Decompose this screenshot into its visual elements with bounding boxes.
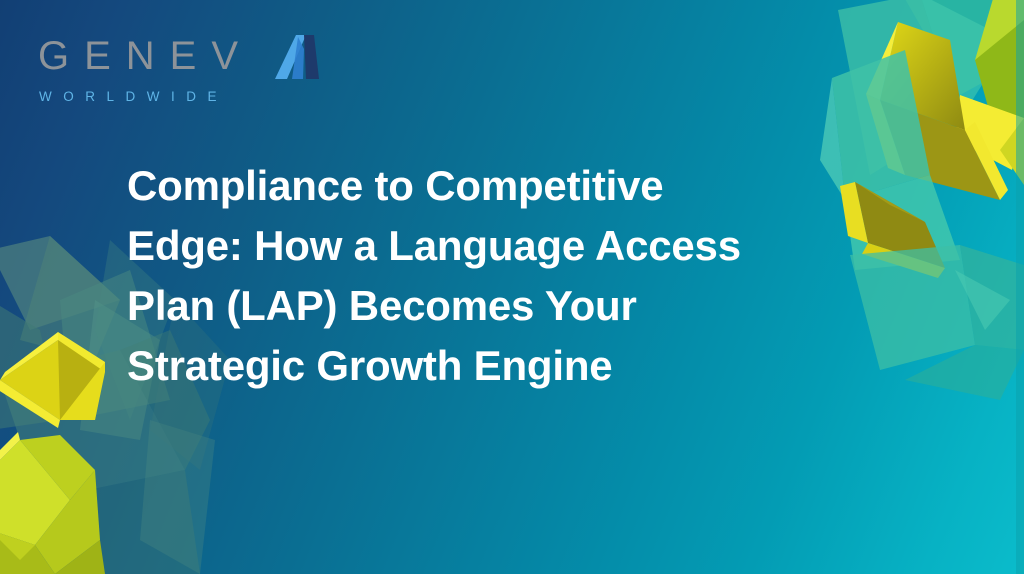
slide-canvas: GENEV WORLDWIDE Compliance to Competitiv… (0, 0, 1024, 574)
title-line-3: Plan (LAP) Becomes Your (127, 276, 887, 336)
logo-a-mark-icon (273, 35, 321, 79)
slide-title: Compliance to Competitive Edge: How a La… (127, 156, 887, 396)
title-line-2: Edge: How a Language Access (127, 216, 887, 276)
logo-brand-letters: GENEV (36, 36, 253, 76)
logo-tagline: WORLDWIDE (36, 90, 326, 104)
title-line-1: Compliance to Competitive (127, 156, 887, 216)
title-line-4: Strategic Growth Engine (127, 336, 887, 396)
geneva-worldwide-logo: GENEV WORLDWIDE (36, 30, 326, 116)
deco-right-edge-strip (1016, 0, 1024, 574)
logo-wordmark: GENEV (36, 30, 326, 82)
